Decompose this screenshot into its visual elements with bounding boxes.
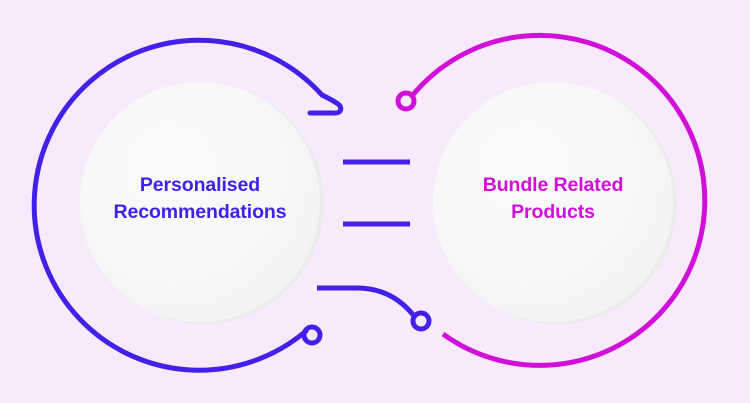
connectors xyxy=(317,162,414,316)
right-disc xyxy=(433,82,673,322)
node-personalised-recommendations[interactable] xyxy=(34,40,341,370)
ring-blue-bottom-mid-icon xyxy=(413,313,429,329)
diagram-graphics xyxy=(0,0,750,403)
ring-blue-bottom-left-icon xyxy=(304,327,320,343)
ring-magenta-top-icon xyxy=(398,93,414,109)
connector-curve-lower xyxy=(317,288,414,316)
left-ring-hook xyxy=(310,95,341,113)
left-disc xyxy=(80,82,320,322)
diagram-canvas: Personalised Recommendations Bundle Rela… xyxy=(0,0,750,403)
node-bundle-related-products[interactable] xyxy=(412,35,705,365)
